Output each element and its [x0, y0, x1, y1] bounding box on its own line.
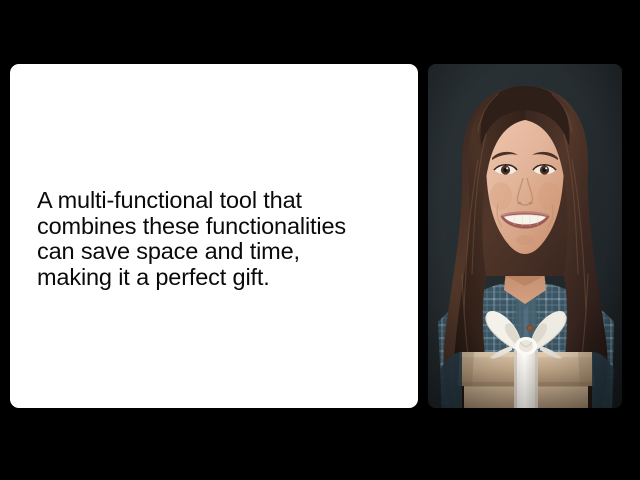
woman-with-gift-photo — [428, 64, 622, 408]
caption-text-block: A multi-functional tool that combines th… — [37, 188, 403, 290]
photo-vignette — [428, 64, 622, 408]
caption-line-1: A multi-functional tool that — [37, 188, 403, 214]
slide-stage: A multi-functional tool that combines th… — [0, 0, 640, 480]
caption-card: A multi-functional tool that combines th… — [10, 64, 418, 408]
caption-line-3: can save space and time, — [37, 239, 403, 265]
photo-panel — [428, 64, 622, 408]
caption-line-4: making it a perfect gift. — [37, 265, 403, 291]
caption-line-2: combines these functionalities — [37, 214, 403, 240]
